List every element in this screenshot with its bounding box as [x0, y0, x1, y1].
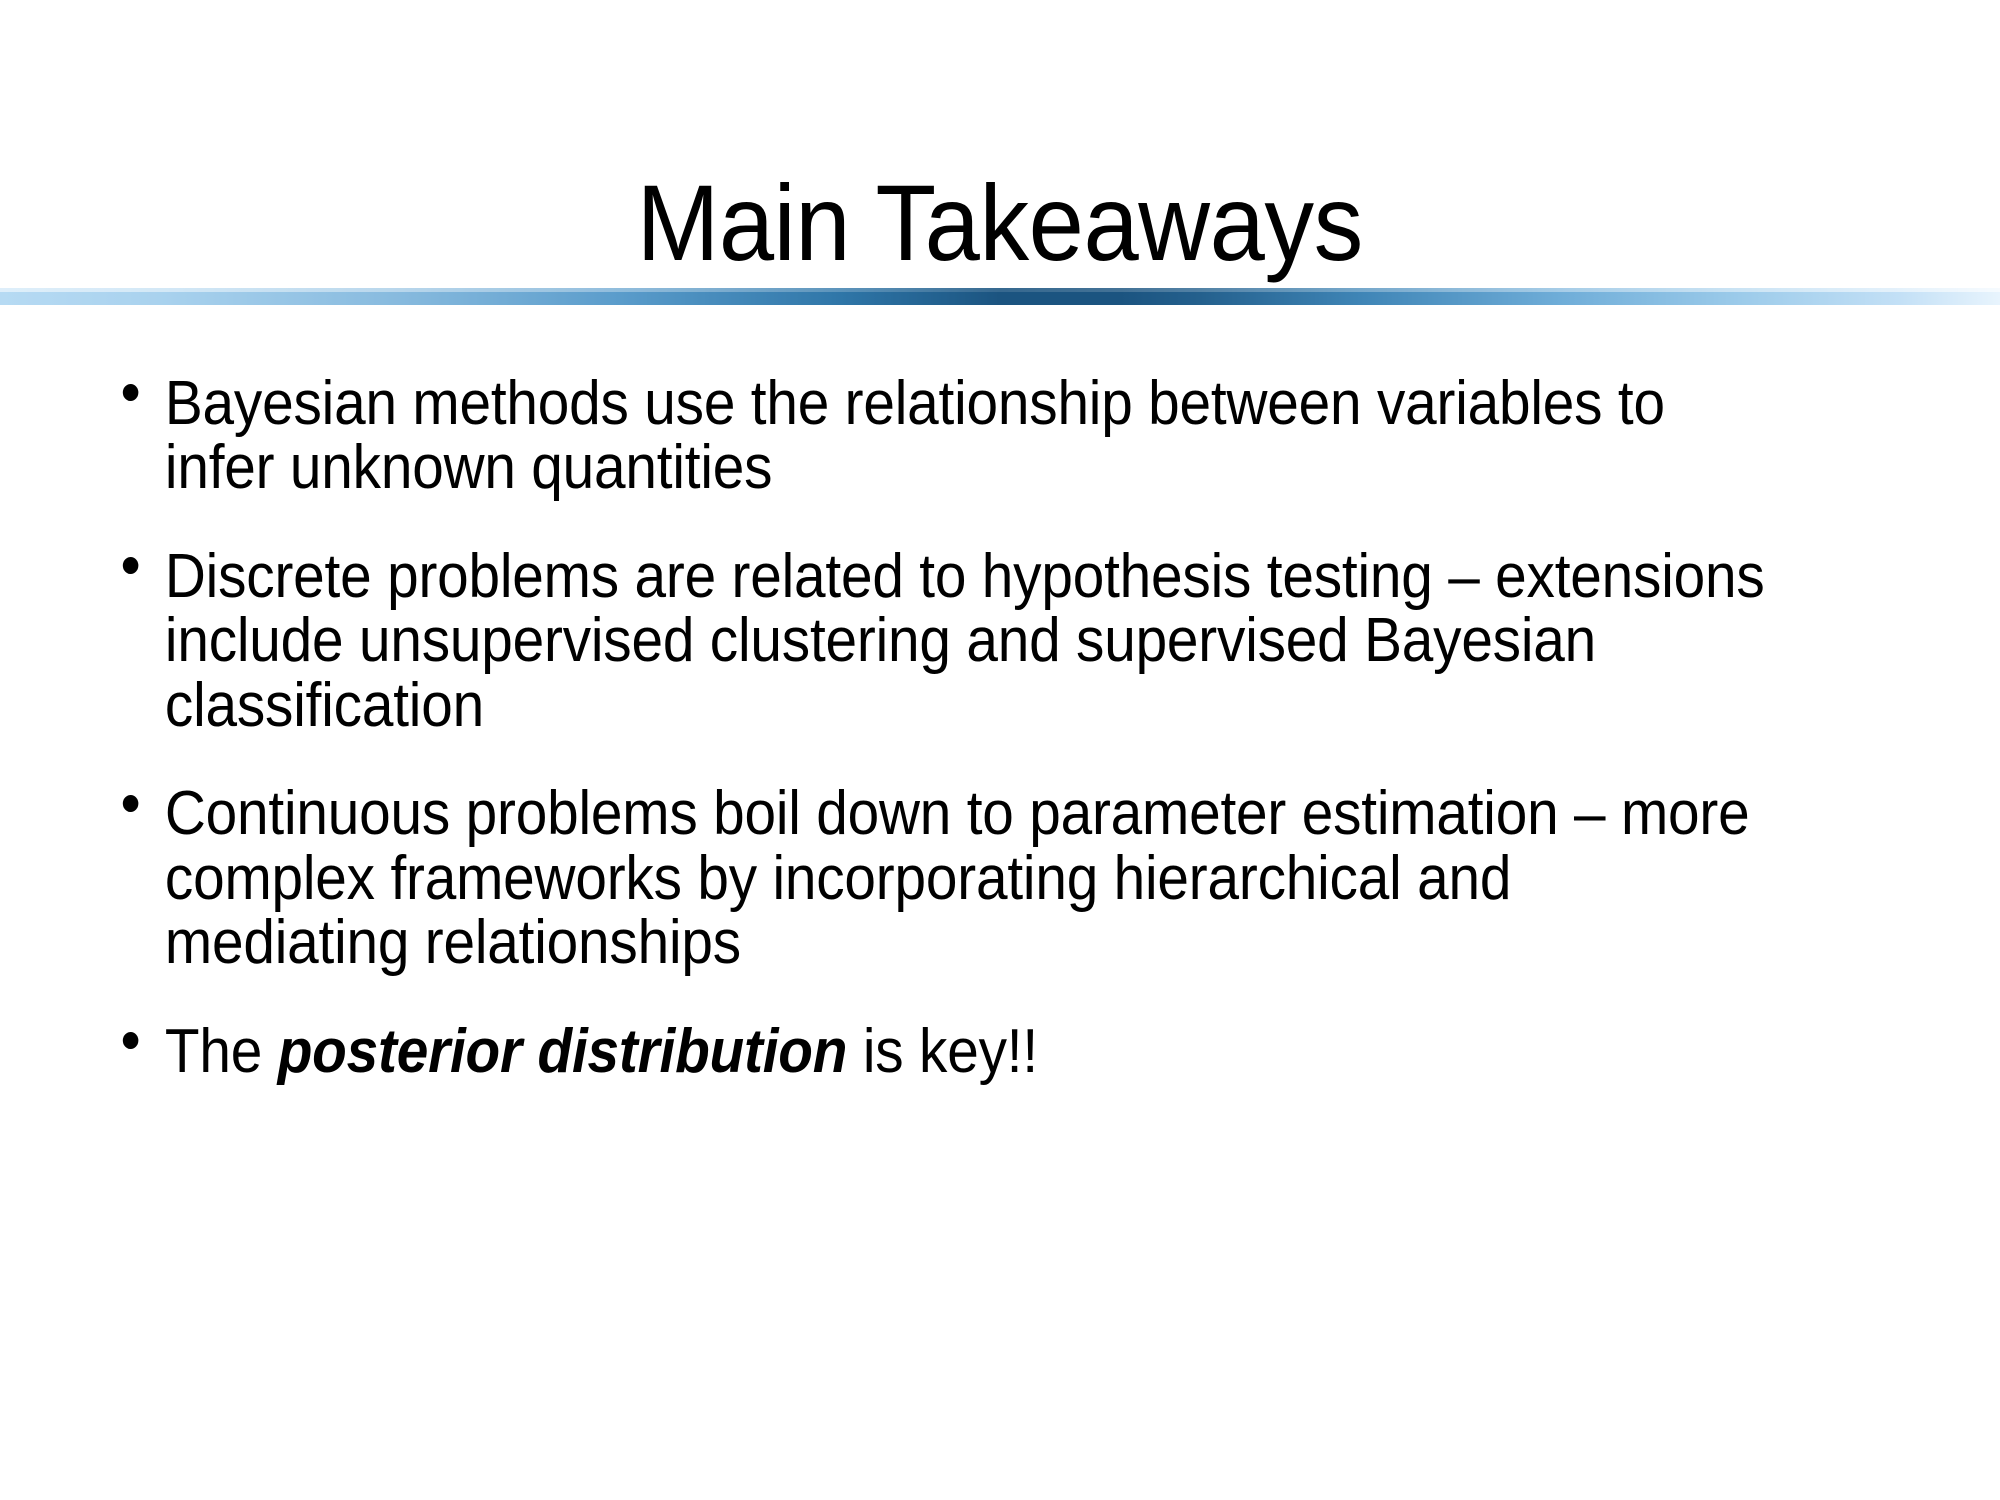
list-item: The posterior distribution is key!!	[110, 1020, 1766, 1084]
list-item-label: Bayesian methods use the relationship be…	[165, 372, 1766, 501]
list-item-suffix: is key!!	[847, 1017, 1038, 1086]
list-item: Continuous problems boil down to paramet…	[110, 782, 1766, 975]
list-item-label: Continuous problems boil down to paramet…	[165, 782, 1766, 975]
page-title: Main Takeaways	[637, 166, 1363, 280]
bullet-list: Bayesian methods use the relationship be…	[110, 372, 1920, 1084]
bullet-dot-icon	[123, 1032, 139, 1049]
bullet-dot-icon	[123, 795, 139, 812]
title-area: Main Takeaways	[0, 0, 2000, 286]
list-item: Discrete problems are related to hypothe…	[110, 545, 1766, 738]
title-divider-bar	[0, 288, 2000, 305]
list-item: Bayesian methods use the relationship be…	[110, 372, 1766, 501]
bullet-dot-icon	[123, 384, 139, 401]
list-item-emphasis: posterior distribution	[278, 1017, 848, 1086]
list-item-label: Discrete problems are related to hypothe…	[165, 545, 1766, 738]
slide: Main Takeaways Bayesian methods use the …	[0, 0, 2000, 1500]
list-item-label: The posterior distribution is key!!	[165, 1020, 1766, 1084]
body-content: Bayesian methods use the relationship be…	[110, 372, 1920, 1084]
list-item-prefix: The	[165, 1017, 278, 1086]
bullet-dot-icon	[123, 557, 139, 574]
